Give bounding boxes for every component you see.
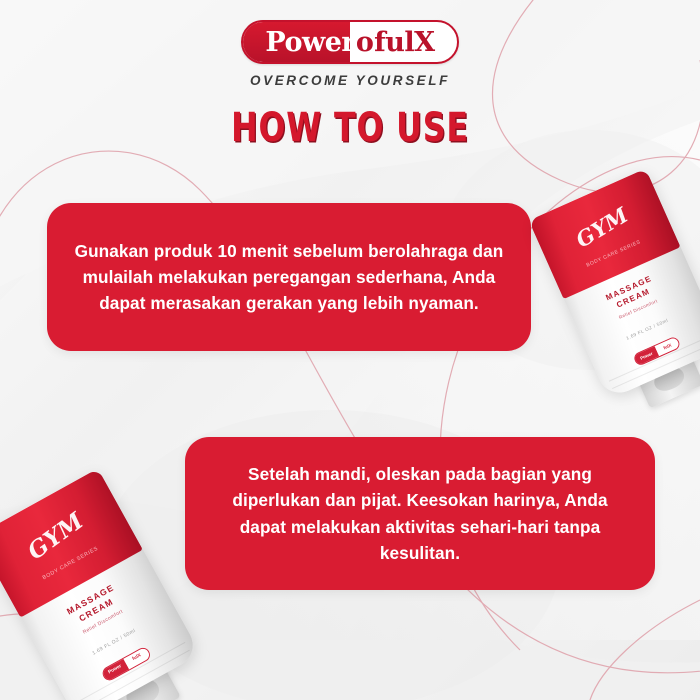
brand-tagline: OVERCOME YOURSELF — [0, 73, 700, 88]
page-title: HOW TO USE — [42, 105, 658, 151]
tube-badge-fulx: fulX — [123, 647, 151, 670]
step-2-text: Setelah mandi, oleskan pada bagian yang … — [185, 461, 655, 566]
tube-badge-fulx: fulX — [655, 336, 680, 355]
tube-label-title: MASSAGE CREAM — [604, 274, 658, 314]
logo-wordmark: Power o fulX — [241, 20, 459, 64]
poster-header: Power o fulX OVERCOME YOURSELF HOW TO US… — [0, 0, 700, 151]
step-card-2: Setelah mandi, oleskan pada bagian yang … — [185, 437, 655, 590]
logo-word-power: Power — [265, 29, 355, 56]
step-1-text: Gunakan produk 10 menit sebelum berolahr… — [47, 238, 531, 316]
logo-word-o: o — [356, 34, 373, 51]
tube-label-volume: 1.69 FL OZ / 50ml — [625, 318, 668, 341]
logo-word-fulx: fulX — [374, 29, 434, 56]
tube-label-title: MASSAGE CREAM — [65, 582, 122, 628]
tube-label-volume: 1.69 FL OZ / 50ml — [91, 628, 136, 657]
step-card-1: Gunakan produk 10 menit sebelum berolahr… — [47, 203, 531, 351]
brand-logo: Power o fulX — [241, 20, 459, 64]
poster-canvas: Power o fulX OVERCOME YOURSELF HOW TO US… — [0, 0, 700, 700]
